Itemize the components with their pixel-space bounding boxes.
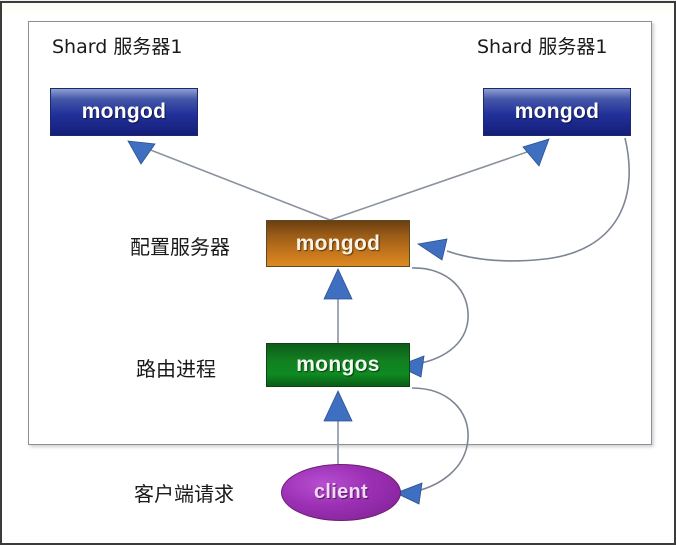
shard-left-caption: Shard 服务器1 — [52, 32, 182, 59]
node-shard-left-mongod[interactable]: mongod — [50, 88, 198, 136]
config-server-caption: 配置服务器 — [130, 231, 230, 260]
node-router-mongos[interactable]: mongos — [266, 343, 410, 387]
page-background-wash — [2, 3, 674, 19]
shard-right-caption: Shard 服务器1 — [477, 32, 607, 59]
client-request-caption: 客户端请求 — [134, 478, 234, 507]
node-config-server-mongod[interactable]: mongod — [266, 220, 410, 267]
node-shard-right-mongod[interactable]: mongod — [483, 88, 631, 136]
router-process-caption: 路由进程 — [136, 353, 216, 382]
node-client[interactable]: client — [281, 464, 401, 521]
diagram-canvas: Shard 服务器1 Shard 服务器1 配置服务器 路由进程 客户端请求 m… — [0, 0, 676, 545]
